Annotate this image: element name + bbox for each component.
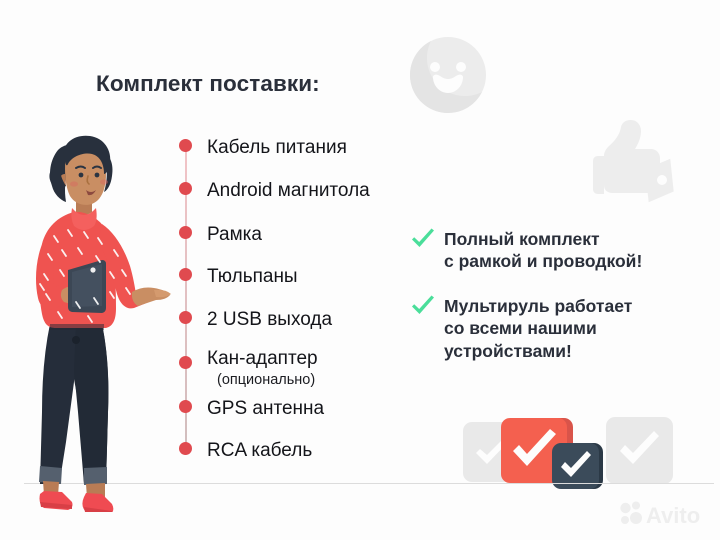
list-item-sublabel: (опционально) [217, 373, 315, 388]
check-icon [410, 295, 436, 319]
list-item-label: Рамка [207, 225, 262, 244]
checkbox-grey-right-icon [606, 417, 673, 484]
benefit-text: Полный комплект с рамкой и проводкой! [444, 228, 642, 273]
list-item-label: Android магнитола [207, 181, 370, 200]
avito-watermark: Avito [619, 499, 709, 529]
benefit-text: Мультируль работает со всеми нашими устр… [444, 295, 632, 362]
kit-contents-list: Кабель питания Android магнитола Рамка Т… [179, 131, 429, 461]
list-item-label: Кан-адаптер [207, 349, 318, 368]
checkbox-cluster-icon [463, 413, 673, 493]
list-item-label: GPS антенна [207, 399, 324, 418]
promo-image-canvas: Комплект поставки: Кабель питания Androi… [0, 0, 720, 540]
thumbs-up-icon [576, 108, 686, 218]
check-icon [410, 228, 436, 252]
list-item-label: RCA кабель [207, 441, 312, 460]
svg-text:Avito: Avito [646, 503, 700, 528]
woman-pointing-illustration [14, 112, 194, 512]
smiley-face-icon [409, 36, 487, 114]
page-title: Комплект поставки: [96, 71, 320, 97]
list-item-label: Тюльпаны [207, 267, 298, 286]
list-item-label: 2 USB выхода [207, 310, 332, 329]
list-item-label: Кабель питания [207, 138, 347, 157]
